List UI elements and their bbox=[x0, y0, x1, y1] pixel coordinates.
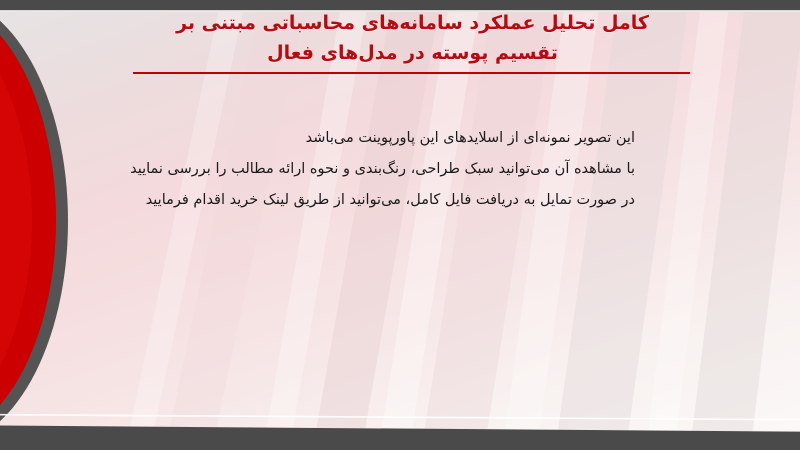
slide-title-line-1: کامل تحلیل عملکرد سامانه‌های محاسباتی مب… bbox=[130, 8, 695, 38]
slide-body-line-2: با مشاهده آن می‌توانید سبک طراحی، رنگ‌بن… bbox=[120, 154, 635, 185]
slide-title: کامل تحلیل عملکرد سامانه‌های محاسباتی مب… bbox=[130, 8, 695, 68]
slide-body-line-1: این تصویر نمونه‌ای از اسلایدهای این پاور… bbox=[120, 123, 635, 154]
slide-title-line-2: تقسیم پوسته در مدل‌های فعال bbox=[130, 38, 695, 68]
presentation-slide: کامل تحلیل عملکرد سامانه‌های محاسباتی مب… bbox=[0, 0, 800, 450]
slide-body-line-3: در صورت تمایل به دریافت فایل کامل، می‌تو… bbox=[120, 185, 635, 216]
title-underline-rule bbox=[133, 72, 690, 74]
slide-body-text: این تصویر نمونه‌ای از اسلایدهای این پاور… bbox=[120, 123, 635, 216]
